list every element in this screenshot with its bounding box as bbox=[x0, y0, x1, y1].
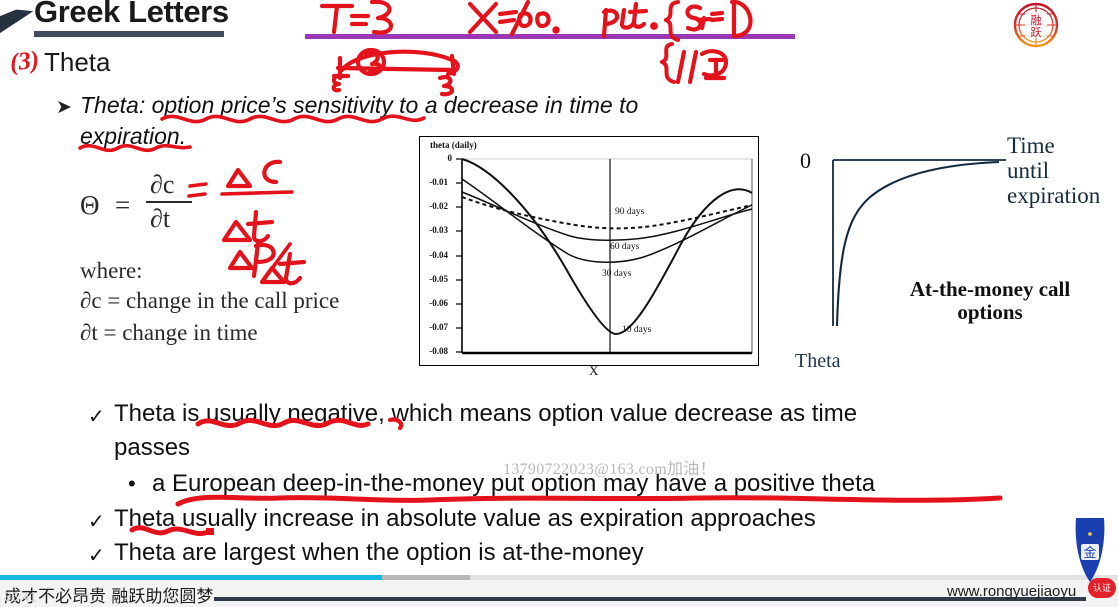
chart-x-axis-label: X bbox=[589, 363, 598, 379]
page-title: Greek Letters bbox=[34, 0, 229, 30]
formula-numerator: ∂c bbox=[150, 170, 174, 200]
series-label-90-days: 90 days bbox=[615, 207, 644, 217]
badge-red-pill: 认证 bbox=[1088, 578, 1116, 598]
rongyue-seal-logo-icon: 融 跃 bbox=[1005, 2, 1067, 48]
bullet-2-text: Theta usually increase in absolute value… bbox=[114, 505, 816, 533]
email-watermark: 13790722023@163.com加油！ bbox=[503, 455, 716, 479]
bullet-1-line-2: passes bbox=[114, 434, 190, 462]
y-tick-007: -0.07 bbox=[418, 322, 448, 332]
section-subtitle: Theta bbox=[44, 47, 111, 78]
y-tick-001: -0.01 bbox=[418, 177, 448, 187]
formula-denominator: ∂t bbox=[150, 204, 170, 234]
where-line-2: ∂t = change in time bbox=[80, 320, 258, 346]
bullet-1-line-1: Theta is usually negative, which means o… bbox=[114, 400, 857, 428]
slide-canvas: Greek Letters (3) Theta 融 跃 ➤ Theta: opt… bbox=[0, 0, 1118, 607]
formula-theta-symbol: Θ bbox=[80, 190, 100, 221]
right-chart-zero-label: 0 bbox=[800, 148, 811, 174]
y-tick-005: -0.05 bbox=[418, 274, 448, 284]
where-label: where: bbox=[80, 258, 143, 284]
theta-time-decay-chart: 0 Time until expiration At-the-money cal… bbox=[795, 130, 1095, 380]
y-tick-008: -0.08 bbox=[418, 346, 448, 356]
handwritten-item-number: (3) bbox=[9, 47, 41, 78]
bullet-check-icon-3: ✓ bbox=[88, 543, 105, 568]
right-chart-annotation: At-the-money call options bbox=[900, 278, 1080, 324]
formula-fraction-bar bbox=[146, 201, 192, 203]
video-timestamp: 36:41 bbox=[4, 589, 37, 604]
footer-website-url: www.rongyuejiaoyu bbox=[947, 583, 1076, 600]
series-label-10-days: 10 days bbox=[622, 325, 651, 335]
formula-equals: = bbox=[115, 190, 130, 221]
header-underline-bar bbox=[34, 31, 224, 37]
svg-text:跃: 跃 bbox=[1031, 25, 1042, 39]
y-tick-0: 0 bbox=[422, 153, 452, 163]
chart-plot-area bbox=[420, 137, 758, 365]
right-chart-x-axis-label: Time until expiration bbox=[1007, 134, 1100, 208]
y-tick-004: -0.04 bbox=[418, 250, 448, 260]
bullet-check-icon-1: ✓ bbox=[88, 404, 105, 429]
series-label-60-days: 60 days bbox=[610, 242, 639, 252]
slide-header: Greek Letters bbox=[0, 0, 1118, 47]
right-chart-x-axis-text: Time until expiration bbox=[1007, 133, 1100, 208]
where-line-1: ∂c = change in the call price bbox=[80, 288, 339, 314]
bullet-check-icon-2: ✓ bbox=[88, 509, 105, 534]
series-label-30-days: 30 days bbox=[602, 269, 631, 279]
bullet-arrow-icon: ➤ bbox=[56, 96, 72, 119]
theta-vs-strike-chart: theta (daily) bbox=[419, 136, 759, 366]
right-chart-y-axis-label: Theta bbox=[795, 350, 841, 373]
bullet-3-text: Theta are largest when the option is at-… bbox=[114, 539, 644, 567]
sub-bullet-dot-icon: • bbox=[128, 471, 136, 497]
y-tick-002: -0.02 bbox=[418, 201, 448, 211]
svg-text:金: 金 bbox=[1083, 545, 1096, 561]
handwritten-purple-underline bbox=[305, 34, 795, 39]
y-tick-006: -0.06 bbox=[418, 298, 448, 308]
y-tick-003: -0.03 bbox=[418, 225, 448, 235]
